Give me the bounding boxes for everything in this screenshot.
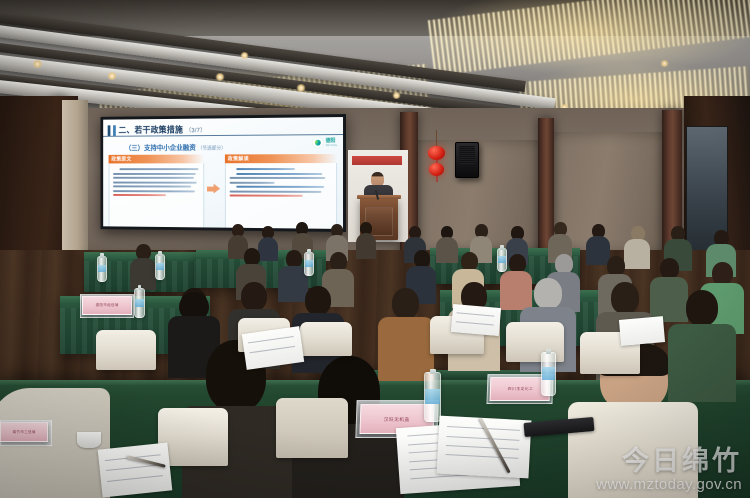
chair	[300, 322, 352, 356]
panel-body-interpretation	[225, 163, 337, 229]
attendee-head	[686, 290, 718, 326]
document-line	[446, 454, 519, 459]
document-line	[106, 464, 161, 471]
attendee-head	[534, 278, 562, 309]
document-line	[456, 322, 494, 326]
name-placard[interactable]: 绵竹市工信局	[0, 422, 48, 442]
slide-panel-original-text: 政策原文	[109, 155, 205, 229]
water-bottle[interactable]	[497, 248, 507, 272]
water-bottle[interactable]	[155, 254, 165, 280]
slide-text-line-highlight	[113, 194, 166, 196]
logo-label: 德阳 DEYANG	[326, 139, 337, 147]
water-bottle[interactable]	[97, 256, 107, 282]
slide-text-line	[230, 177, 325, 179]
slide-text-line	[230, 181, 275, 183]
attendee-head	[607, 256, 625, 276]
water-bottle[interactable]	[424, 372, 441, 422]
slide-text-line-highlight	[230, 195, 303, 198]
name-placard[interactable]: 德阳市经信局	[82, 296, 132, 315]
attendee	[130, 244, 156, 288]
presentation-slide: 二、若干政策措施 （3/7） （三）支持中小企业融资 （节选部分） 德阳 DEY…	[103, 117, 343, 229]
ceiling-spotlight-5	[296, 84, 306, 92]
slide-text-line	[230, 190, 322, 193]
slide-text-line	[236, 173, 322, 175]
water-bottle[interactable]	[304, 252, 314, 276]
document-line	[446, 445, 519, 450]
bottle-label	[425, 389, 440, 403]
attendee-torso	[130, 258, 156, 290]
chair	[276, 398, 348, 458]
ceiling-spotlight-8	[660, 60, 669, 67]
logo-subname: DEYANG	[326, 144, 337, 147]
placard-name: 四川玉龙化工	[507, 386, 533, 392]
arrow-head-icon	[214, 184, 221, 194]
slide-title-block: 二、若干政策措施 （3/7）	[108, 123, 206, 135]
placard-name: 德阳市经信局	[95, 303, 118, 308]
panel-body-original	[109, 163, 205, 229]
document-sheet[interactable]	[619, 316, 665, 346]
slide-text-line	[113, 181, 197, 183]
attendee-torso	[356, 233, 376, 259]
attendee-head	[611, 282, 639, 314]
slide-subtitle-text: （三）支持中小企业融资	[125, 145, 196, 152]
bottle-label	[498, 256, 506, 263]
bottle-label	[98, 265, 106, 272]
attendee-head	[660, 258, 679, 279]
chair	[96, 330, 156, 370]
attendee-head	[555, 254, 573, 274]
slide-text-line	[236, 186, 324, 189]
placard-name: 汉旺无机盐	[384, 416, 410, 423]
document-sheet[interactable]	[451, 304, 501, 336]
projection-screen: 二、若干政策措施 （3/7） （三）支持中小企业融资 （节选部分） 德阳 DEY…	[100, 114, 346, 232]
bottle-label	[135, 299, 144, 307]
slide-text-line	[119, 168, 199, 170]
bottle-label	[156, 263, 164, 270]
bottle-label	[542, 367, 555, 380]
bottle-label	[305, 260, 313, 267]
placard-name: 绵竹市工信局	[12, 430, 35, 435]
document-line	[248, 336, 294, 343]
slide-text-line	[236, 168, 295, 170]
slide-text-line	[113, 177, 194, 179]
conference-room-photo: 二、若干政策措施 （3/7） （三）支持中小企业融资 （节选部分） 德阳 DEY…	[0, 0, 750, 498]
red-lantern-lower	[429, 163, 444, 176]
podium-top-surface	[357, 195, 401, 199]
ceiling-spotlight-1	[32, 60, 43, 68]
attendee-head	[392, 288, 419, 319]
slide-title-text: 二、若干政策措施	[119, 125, 184, 135]
slide-text-line	[113, 186, 191, 188]
ceiling-spotlight-6	[392, 92, 401, 99]
slide-title: 二、若干政策措施 （3/7）	[119, 123, 206, 135]
ceiling-spotlight-3	[215, 73, 225, 81]
attendee-torso	[568, 402, 698, 498]
document-line	[250, 346, 296, 353]
red-lantern-upper	[428, 146, 445, 160]
slide-logo: 德阳 DEYANG	[313, 137, 337, 148]
document-sheet[interactable]	[98, 442, 173, 497]
panel-header-original: 政策原文	[109, 155, 205, 164]
attendee-head	[241, 282, 267, 311]
stage-banner-red	[352, 156, 402, 165]
slide-subtitle: （三）支持中小企业融资 （节选部分）	[125, 143, 226, 153]
title-accent-bar-2	[113, 125, 116, 136]
logo-circle-icon	[313, 137, 324, 148]
document-line	[447, 436, 520, 441]
document-line	[107, 475, 162, 482]
attendee-head	[305, 286, 331, 315]
attendee-head	[712, 262, 733, 285]
slide-subtitle-note: （节选部分）	[198, 146, 226, 152]
attendee	[356, 222, 376, 258]
pa-speaker-wall-mounted	[455, 142, 479, 178]
document-line	[457, 313, 495, 317]
water-bottle[interactable]	[541, 352, 556, 396]
ceiling-spotlight-2	[107, 72, 117, 80]
slide-panel-interpretation: 政策解读	[225, 154, 337, 229]
tea-cup[interactable]	[77, 432, 101, 448]
panel-header-interpretation: 政策解读	[225, 154, 337, 163]
title-accent-bar-1	[108, 125, 111, 136]
water-bottle[interactable]	[134, 288, 145, 318]
ceiling-spotlight-4	[240, 52, 249, 59]
slide-text-line	[113, 173, 196, 175]
slide-text-line	[113, 190, 195, 193]
slide-title-count: （3/7）	[186, 128, 206, 134]
